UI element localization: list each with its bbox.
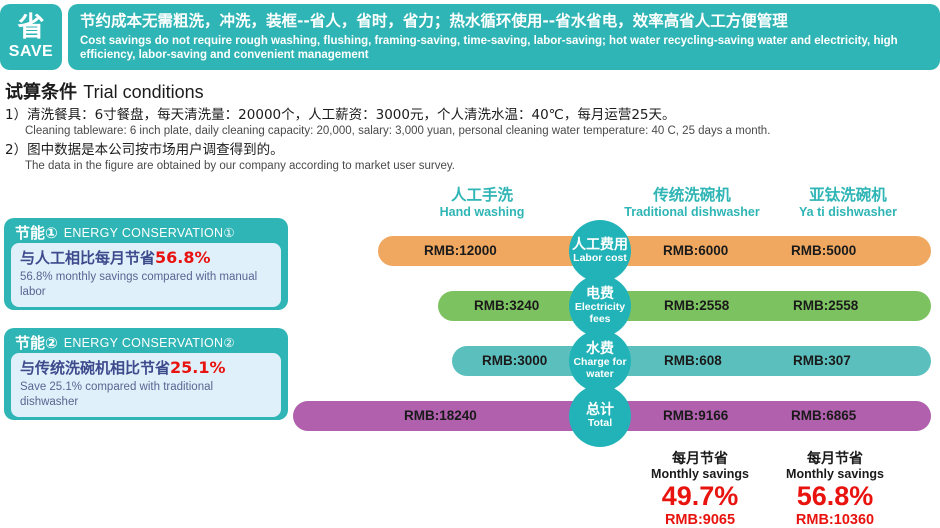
- page-title-en: Trial conditions: [83, 82, 203, 102]
- category-circle-total-en: Total: [588, 418, 612, 429]
- bar-water-value-traditional: RMB:608: [664, 346, 722, 376]
- bar-electricity-value-hand: RMB:3240: [474, 291, 539, 321]
- column-header-traditional-en: Traditional dishwasher: [602, 205, 782, 220]
- header-text-bar: 节约成本无需粗洗，冲洗，装框--省人，省时，省力；热水循环使用--省水省电，效率…: [68, 4, 940, 70]
- monthly-savings-traditional: 每月节省 Monthly savings 49.7% RMB:9065: [625, 451, 775, 528]
- monthly-savings-traditional-cn: 每月节省: [625, 451, 775, 467]
- bar-electricity-value-yati: RMB:2558: [793, 291, 858, 321]
- category-circle-electricity-fees-cn: 电费: [586, 287, 614, 302]
- header-banner: 省 SAVE 节约成本无需粗洗，冲洗，装框--省人，省时，省力；热水循环使用--…: [0, 4, 940, 70]
- category-circle-electricity-fees-en: Electricity fees: [569, 302, 631, 325]
- save-badge: 省 SAVE: [0, 4, 62, 70]
- bar-electricity-fees: RMB:3240 RMB:2558 RMB:2558: [438, 291, 931, 321]
- bar-electricity-value-traditional: RMB:2558: [664, 291, 729, 321]
- column-header-yati-en: Ya ti dishwasher: [768, 205, 928, 220]
- condition-item-2: 2）图中数据是本公司按市场用户调查得到的。 The data in the fi…: [5, 141, 940, 175]
- bar-labor-value-hand: RMB:12000: [424, 236, 497, 266]
- category-circle-charge-for-water-en: Charge for water: [569, 357, 631, 380]
- page-title: 试算条件 Trial conditions: [5, 78, 940, 104]
- bar-total-value-hand: RMB:18240: [404, 401, 477, 431]
- monthly-savings-yati: 每月节省 Monthly savings 56.8% RMB:10360: [760, 451, 910, 528]
- monthly-savings-traditional-percent: 49.7%: [625, 482, 775, 512]
- header-title-cn: 节约成本无需粗洗，冲洗，装框--省人，省时，省力；热水循环使用--省水省电，效率…: [80, 12, 930, 31]
- monthly-savings-traditional-amount: RMB:9065: [625, 512, 775, 528]
- bar-labor-cost: RMB:12000 RMB:6000 RMB:5000: [378, 236, 931, 266]
- condition-2-en: The data in the figure are obtained by o…: [25, 159, 940, 175]
- bar-total-value-yati: RMB:6865: [791, 401, 856, 431]
- bar-total-value-traditional: RMB:9166: [663, 401, 728, 431]
- monthly-savings-yati-amount: RMB:10360: [760, 512, 910, 528]
- cost-comparison-chart: 人工手洗 Hand washing 传统洗碗机 Traditional dish…: [0, 186, 940, 518]
- column-header-hand-washing-en: Hand washing: [392, 205, 572, 220]
- condition-2-cn: 2）图中数据是本公司按市场用户调查得到的。: [5, 141, 940, 159]
- bar-labor-value-traditional: RMB:6000: [663, 236, 728, 266]
- condition-1-cn: 1）清洗餐具：6寸餐盘，每天清洗量：20000个，人工薪资：3000元，个人清洗…: [5, 106, 940, 124]
- bar-labor-value-yati: RMB:5000: [791, 236, 856, 266]
- column-header-traditional: 传统洗碗机 Traditional dishwasher: [602, 187, 782, 220]
- category-circle-electricity-fees: 电费 Electricity fees: [569, 275, 631, 337]
- page-title-cn: 试算条件: [5, 82, 77, 103]
- column-header-yati-cn: 亚钛洗碗机: [768, 187, 928, 205]
- column-header-traditional-cn: 传统洗碗机: [602, 187, 782, 205]
- monthly-savings-yati-en: Monthly savings: [760, 467, 910, 482]
- save-badge-en: SAVE: [9, 44, 53, 60]
- condition-item-1: 1）清洗餐具：6寸餐盘，每天清洗量：20000个，人工薪资：3000元，个人清洗…: [5, 106, 940, 140]
- condition-1-en: Cleaning tableware: 6 inch plate, daily …: [25, 124, 940, 140]
- category-circle-charge-for-water-cn: 水费: [586, 342, 614, 357]
- bar-water-value-hand: RMB:3000: [482, 346, 547, 376]
- column-header-hand-washing: 人工手洗 Hand washing: [392, 187, 572, 220]
- monthly-savings-yati-percent: 56.8%: [760, 482, 910, 512]
- save-badge-cn: 省: [18, 14, 45, 41]
- category-circle-labor-cost: 人工费用 Labor cost: [569, 220, 631, 282]
- category-circle-total: 总计 Total: [569, 385, 631, 447]
- header-title-en: Cost savings do not require rough washin…: [80, 34, 930, 62]
- bar-water-value-yati: RMB:307: [793, 346, 851, 376]
- monthly-savings-yati-cn: 每月节省: [760, 451, 910, 467]
- category-circle-labor-cost-cn: 人工费用: [572, 238, 628, 253]
- column-header-yati: 亚钛洗碗机 Ya ti dishwasher: [768, 187, 928, 220]
- trial-conditions: 试算条件 Trial conditions 1）清洗餐具：6寸餐盘，每天清洗量：…: [5, 78, 940, 175]
- monthly-savings-traditional-en: Monthly savings: [625, 467, 775, 482]
- column-header-hand-washing-cn: 人工手洗: [392, 187, 572, 205]
- category-circle-labor-cost-en: Labor cost: [573, 253, 627, 264]
- category-circle-total-cn: 总计: [586, 403, 614, 418]
- category-circle-charge-for-water: 水费 Charge for water: [569, 330, 631, 392]
- bar-charge-for-water: RMB:3000 RMB:608 RMB:307: [452, 346, 931, 376]
